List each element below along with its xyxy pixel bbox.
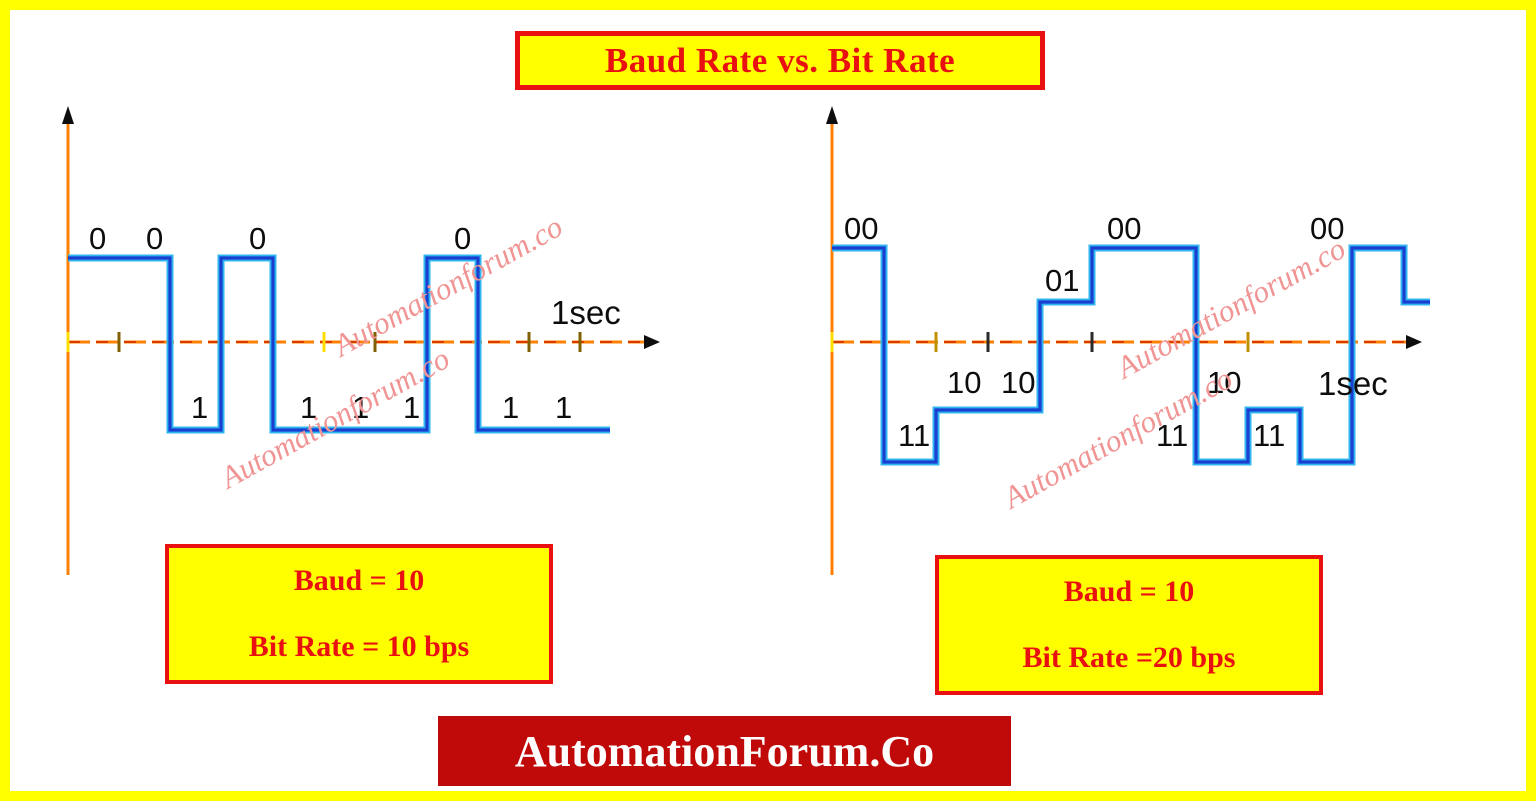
right-symbol-label-11a: 11	[898, 420, 930, 451]
right-symbol-label-00c: 00	[1310, 213, 1344, 244]
right-bitrate-label: Bit Rate =20 bps	[1023, 641, 1236, 675]
page-root: Baud Rate vs. Bit Rate	[0, 0, 1536, 801]
right-symbol-label-10c: 10	[1207, 367, 1241, 398]
diagram-canvas: Baud Rate vs. Bit Rate	[10, 10, 1526, 791]
left-baud-label: Baud = 10	[294, 564, 424, 598]
right-symbol-label-00a: 00	[844, 213, 878, 244]
left-info-box: Baud = 10 Bit Rate = 10 bps	[165, 544, 553, 684]
right-baud-label: Baud = 10	[1064, 575, 1194, 609]
right-x-axis-arrow	[1406, 335, 1422, 349]
right-symbol-label-10a: 10	[947, 367, 981, 398]
right-symbol-label-11b: 11	[1156, 420, 1188, 451]
right-symbol-label-00b: 00	[1107, 213, 1141, 244]
right-symbol-label-01: 01	[1045, 265, 1079, 296]
footer-brand-label: AutomationForum.Co	[515, 726, 934, 777]
right-y-axis-arrow	[826, 106, 838, 124]
right-time-label: 1sec	[1318, 365, 1388, 403]
right-symbol-label-11c: 11	[1253, 420, 1285, 451]
footer-banner: AutomationForum.Co	[438, 716, 1011, 786]
right-info-box: Baud = 10 Bit Rate =20 bps	[935, 555, 1323, 695]
right-symbol-label-10b: 10	[1001, 367, 1035, 398]
left-bitrate-label: Bit Rate = 10 bps	[249, 630, 469, 664]
